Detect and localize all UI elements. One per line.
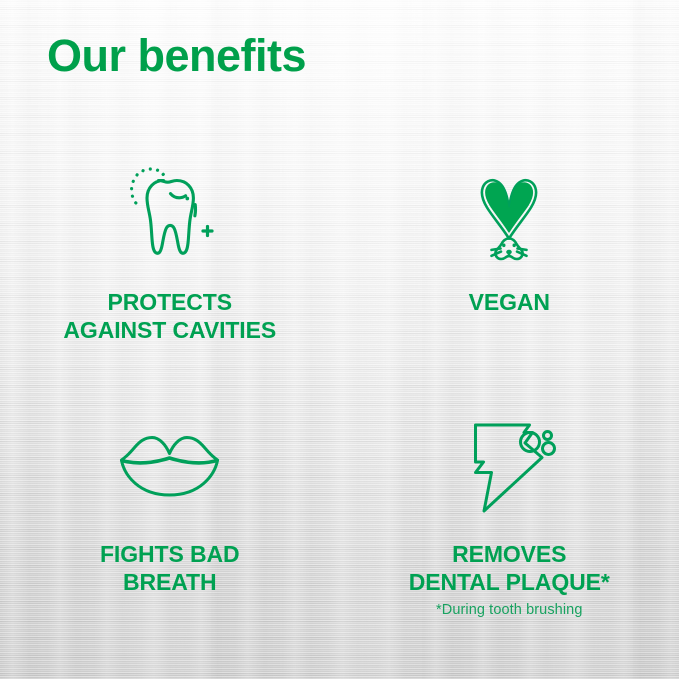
benefit-item-fights-bad-breath: FIGHTS BAD BREATH	[0, 412, 340, 618]
heart-rabbit-vegan-icon	[454, 160, 564, 270]
benefit-item-vegan: VEGAN	[340, 160, 679, 344]
lips-icon	[107, 412, 232, 522]
page-title: Our benefits	[47, 33, 306, 78]
benefits-row-1: PROTECTS AGAINST CAVITIES	[0, 160, 679, 344]
benefit-label: FIGHTS BAD BREATH	[100, 540, 240, 596]
benefits-grid: PROTECTS AGAINST CAVITIES	[0, 160, 679, 618]
benefit-item-protects-against-cavities: PROTECTS AGAINST CAVITIES	[0, 160, 340, 344]
benefits-row-2: FIGHTS BAD BREATH	[0, 412, 679, 618]
benefits-poster: Our benefits	[0, 0, 679, 679]
benefit-label: PROTECTS AGAINST CAVITIES	[63, 288, 276, 344]
lightning-bolt-bubbles-icon	[452, 412, 567, 522]
benefit-label: VEGAN	[469, 288, 550, 316]
benefit-label: REMOVES DENTAL PLAQUE*	[409, 540, 610, 596]
tooth-sparkle-icon	[110, 160, 230, 270]
benefit-footnote: *During tooth brushing	[436, 602, 583, 618]
benefit-item-removes-dental-plaque: REMOVES DENTAL PLAQUE* *During tooth bru…	[340, 412, 679, 618]
